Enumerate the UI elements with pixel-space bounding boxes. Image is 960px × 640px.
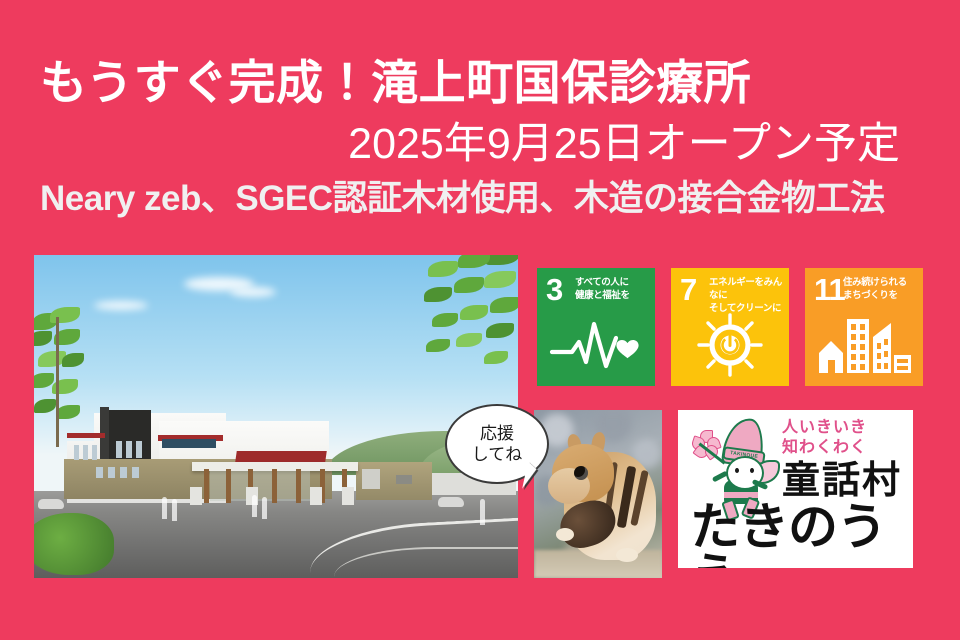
mascot-belt xyxy=(724,492,758,498)
speech-bubble: 応援 してね xyxy=(445,404,549,484)
sdg-number-7: 7 xyxy=(680,274,696,305)
takinoue-mascot-icon: TAKINOUE xyxy=(690,416,780,508)
canopy-base xyxy=(310,487,322,505)
logo-kanji-dowamura: 童話村 xyxy=(782,462,902,500)
sdg-label-11: 住み続けられる まちづくりを xyxy=(843,277,907,303)
shrub-decor xyxy=(34,513,114,575)
figure-silhouette xyxy=(262,497,267,519)
canopy-column xyxy=(296,469,301,503)
parked-car xyxy=(438,497,464,507)
logo-tagline: 人いきいき 知わくわく xyxy=(782,418,867,458)
chipmunk-eye xyxy=(574,466,588,480)
sdg-number-3: 3 xyxy=(546,274,562,305)
speech-bubble-line-2: してね xyxy=(472,444,523,465)
canopy-column xyxy=(272,469,277,503)
sdg-label-3: すべての人に 健康と福祉を xyxy=(575,277,630,303)
sun-power-icon xyxy=(671,312,789,378)
parked-car xyxy=(38,499,64,509)
canopy-column xyxy=(226,469,231,503)
window xyxy=(136,441,142,458)
figure-silhouette xyxy=(252,495,257,517)
window xyxy=(116,441,122,458)
chipmunk-photo xyxy=(534,410,662,578)
takinoue-logo-card: TAKINOUE 人いきいき 知わくわく 童話村 たきのうえ xyxy=(678,410,913,568)
side-entrance-door xyxy=(362,469,380,489)
window xyxy=(126,441,132,458)
entrance-glass xyxy=(210,471,310,501)
city-buildings-icon xyxy=(805,312,923,378)
features-line: Neary zeb、SGEC認証木材使用、木造の接合金物工法 xyxy=(40,180,920,219)
canopy-base xyxy=(190,487,202,505)
figure-silhouette xyxy=(172,499,177,521)
poster-root: もうすぐ完成！滝上町国保診療所 2025年9月25日オープン予定 Neary z… xyxy=(0,0,960,640)
tree-foliage-left xyxy=(34,307,106,457)
figure-silhouette xyxy=(480,499,485,525)
sdg-badge-row: 3 すべての人に 健康と福祉を 7 エネルギーをみんなに そしてクリーンに xyxy=(537,268,923,386)
opening-date-line: 2025年9月25日オープン予定 xyxy=(40,122,900,167)
tree-foliage-right xyxy=(384,255,518,383)
window xyxy=(108,467,115,478)
window xyxy=(120,467,127,478)
window xyxy=(132,467,139,478)
sdg-label-7: エネルギーをみんなに そしてクリーンに xyxy=(709,277,789,315)
canopy-column xyxy=(204,469,209,503)
heartbeat-icon xyxy=(537,312,655,378)
sdg-card-11[interactable]: 11 住み続けられる まちづくりを xyxy=(805,268,923,386)
mascot-eye xyxy=(750,468,754,473)
window xyxy=(96,467,103,478)
page-title: もうすぐ完成！滝上町国保診療所 xyxy=(40,58,920,107)
building-rendering-photo xyxy=(34,255,518,578)
figure-silhouette xyxy=(162,497,167,519)
mascot-eye xyxy=(735,468,739,473)
speech-bubble-line-1: 応援 xyxy=(480,423,514,444)
chipmunk-paw xyxy=(616,548,638,562)
canopy-base xyxy=(342,487,354,505)
sdg-card-7[interactable]: 7 エネルギーをみんなに そしてクリーンに xyxy=(671,268,789,386)
window xyxy=(396,475,412,484)
logo-hiragana-takinoue: たきのうえ xyxy=(690,502,913,568)
chipmunk-paw xyxy=(556,528,574,541)
sdg-number-11: 11 xyxy=(814,274,845,305)
sakura-flower-icon xyxy=(692,430,718,456)
window-strip xyxy=(162,439,216,448)
cloud-decor xyxy=(230,287,276,297)
sdg-card-3[interactable]: 3 すべての人に 健康と福祉を xyxy=(537,268,655,386)
entrance-canopy-roof xyxy=(235,451,327,462)
